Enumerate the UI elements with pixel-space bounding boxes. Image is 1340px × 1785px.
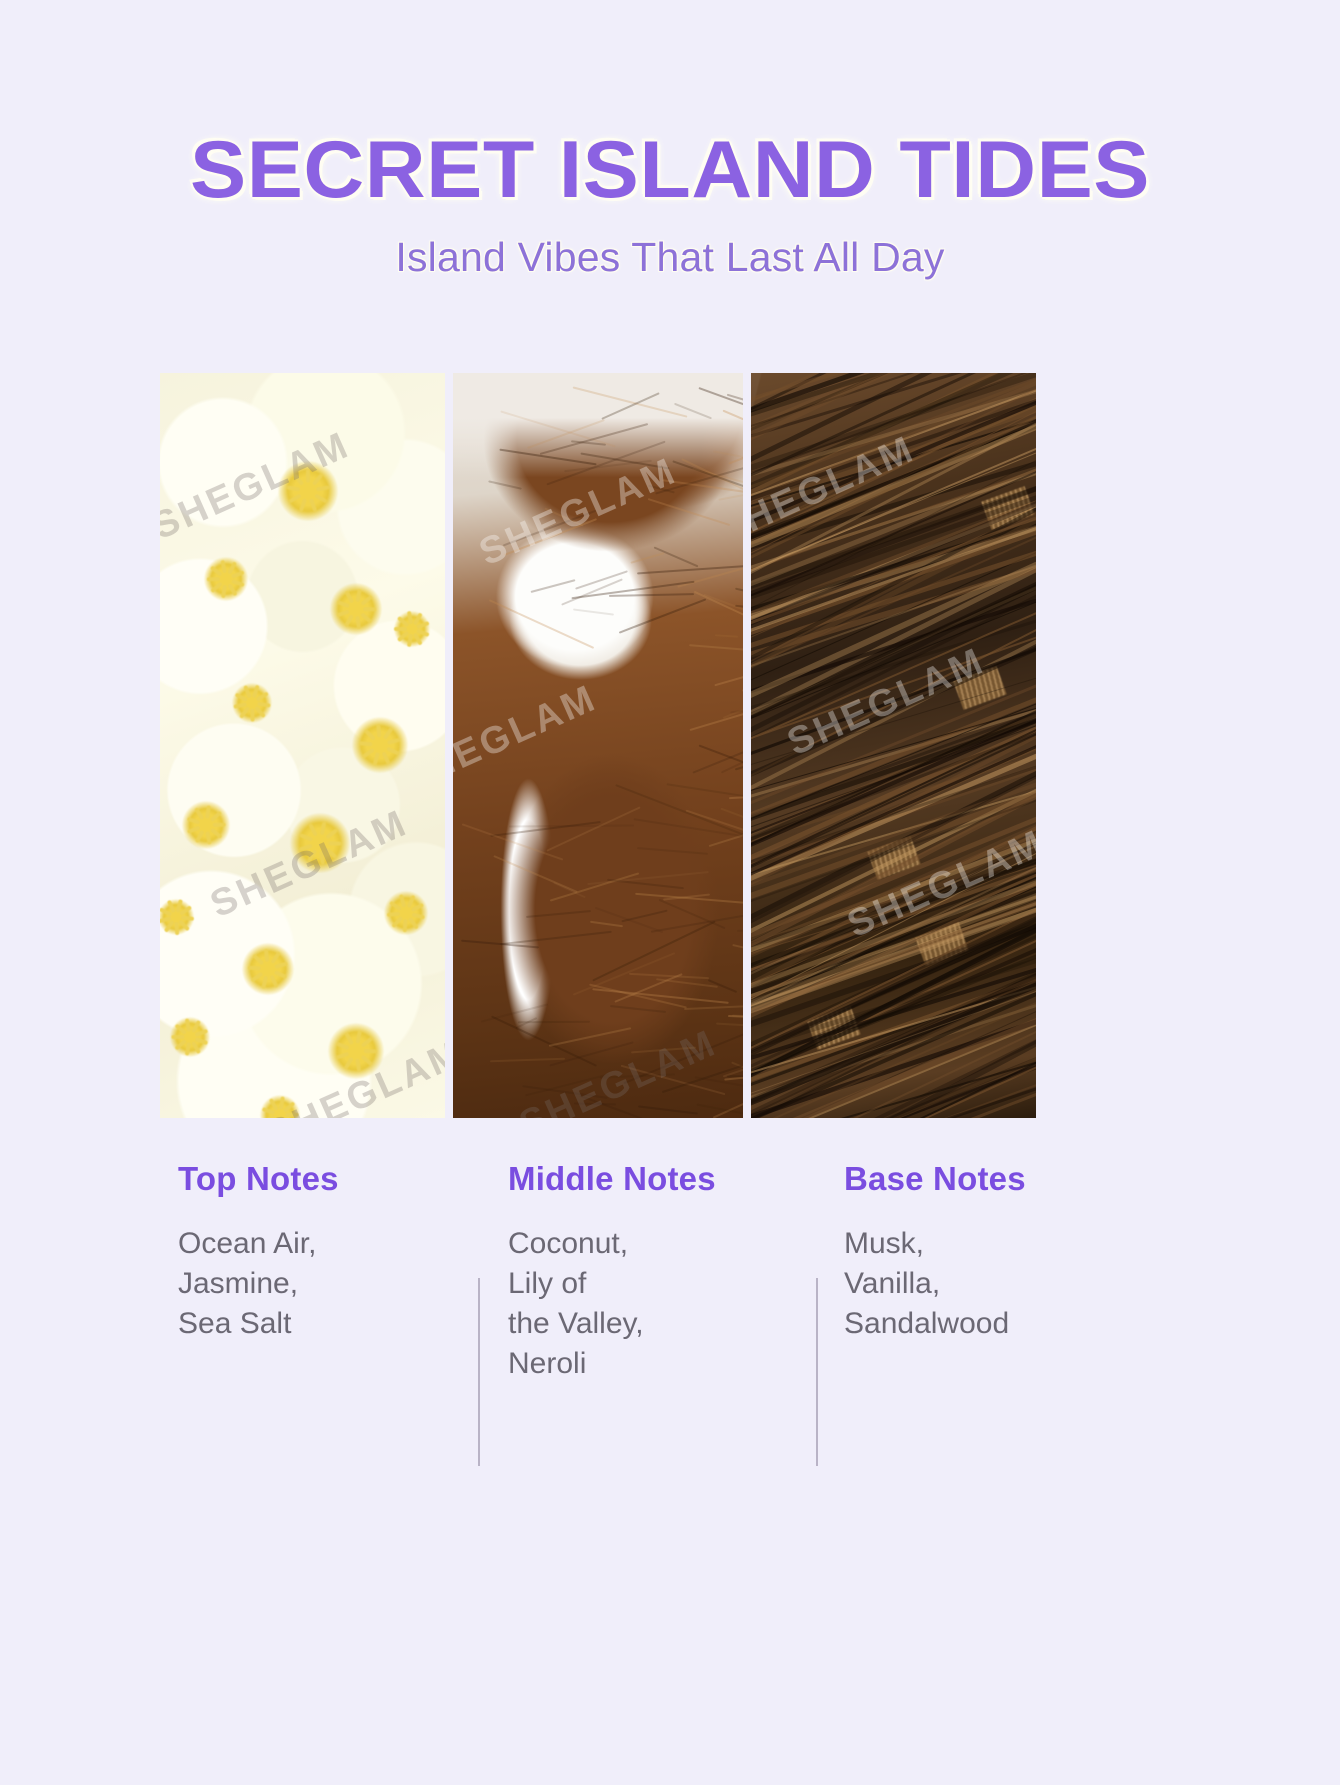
page-title: SECRET ISLAND TIDES: [0, 128, 1340, 212]
flower-stamen-cluster: [328, 1023, 384, 1079]
flower-stamen-cluster: [232, 683, 272, 723]
note-column-top: Top Notes Ocean Air, Jasmine, Sea Salt: [160, 1160, 478, 1384]
flower-stamen-cluster: [204, 557, 248, 601]
note-heading-base: Base Notes: [844, 1160, 1174, 1198]
note-heading-top: Top Notes: [178, 1160, 478, 1198]
flower-stamen-cluster: [394, 611, 430, 647]
flower-stamen-cluster: [278, 461, 338, 521]
note-heading-middle: Middle Notes: [508, 1160, 816, 1198]
flower-stamen-cluster: [182, 801, 230, 849]
flower-stamen-cluster: [242, 943, 294, 995]
flower-stamen-cluster: [330, 583, 382, 635]
flower-stamen-cluster: [170, 1017, 210, 1057]
note-list-top: Ocean Air, Jasmine, Sea Salt: [178, 1224, 478, 1344]
column-divider: [478, 1278, 480, 1466]
header: SECRET ISLAND TIDES Island Vibes That La…: [0, 0, 1340, 281]
coconut-husk-texture: [453, 373, 743, 1118]
infographic-page: SECRET ISLAND TIDES Island Vibes That La…: [0, 0, 1340, 1785]
note-list-base: Musk, Vanilla, Sandalwood: [844, 1224, 1174, 1344]
sandalwood-image: SHEGLAM SHEGLAM SHEGLAM: [751, 373, 1036, 1118]
jasmine-flowers-image: SHEGLAM SHEGLAM SHEGLAM: [160, 373, 445, 1118]
page-subtitle: Island Vibes That Last All Day: [0, 234, 1340, 281]
flower-stamen-cluster: [290, 813, 350, 873]
fragrance-notes: Top Notes Ocean Air, Jasmine, Sea Salt M…: [160, 1160, 1182, 1384]
flower-stamen-cluster: [384, 891, 428, 935]
note-column-base: Base Notes Musk, Vanilla, Sandalwood: [816, 1160, 1174, 1384]
coconut-image: SHEGLAM SHEGLAM SHEGLAM: [453, 373, 743, 1118]
flower-stamen-cluster: [260, 1095, 300, 1118]
flower-stamen-cluster: [352, 717, 408, 773]
flower-stamen-cluster: [160, 899, 194, 935]
note-column-middle: Middle Notes Coconut, Lily of the Valley…: [478, 1160, 816, 1384]
image-gallery: SHEGLAM SHEGLAM SHEGLAM SHEGLAM SHEGLAM …: [160, 373, 1182, 1118]
note-list-middle: Coconut, Lily of the Valley, Neroli: [508, 1224, 816, 1384]
column-divider: [816, 1278, 818, 1466]
